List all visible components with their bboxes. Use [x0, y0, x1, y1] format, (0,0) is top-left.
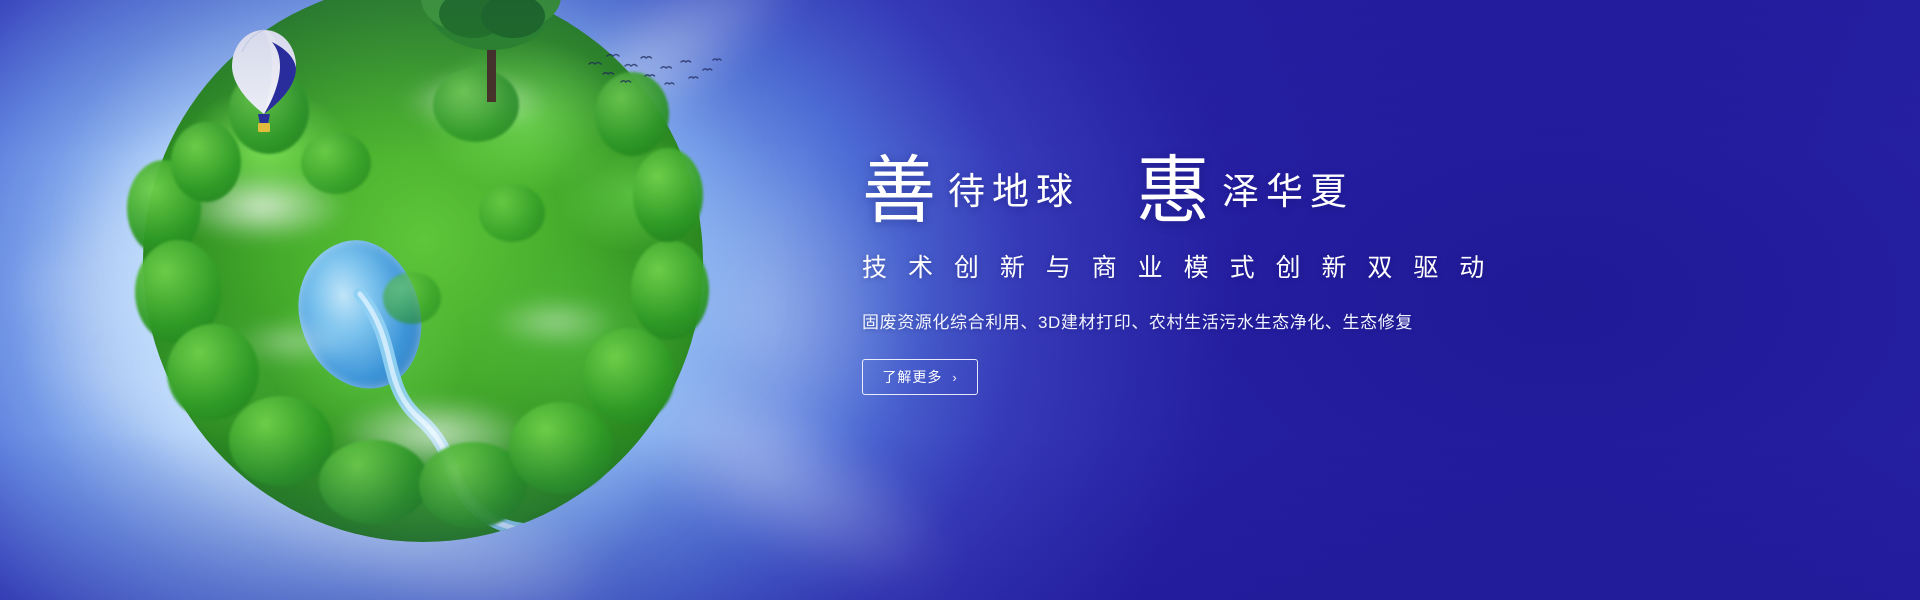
hero-content: 善 待地球 惠 泽华夏 技 术 创 新 与 商 业 模 式 创 新 双 驱 动 …	[862, 126, 1562, 395]
headline-part1-big: 善	[862, 154, 936, 228]
page-title: 善 待地球 惠 泽华夏	[862, 126, 1562, 222]
learn-more-label: 了解更多	[882, 367, 942, 387]
learn-more-button[interactable]: 了解更多 ›	[862, 359, 978, 395]
hero-description: 固废资源化综合利用、3D建材打印、农村生活污水生态净化、生态修复	[862, 308, 1562, 333]
headline-part2-small: 泽华夏	[1222, 173, 1354, 210]
headline-part1-small: 待地球	[948, 173, 1080, 210]
hero-subtitle: 技 术 创 新 与 商 业 模 式 创 新 双 驱 动	[862, 248, 1562, 284]
headline-part2-big: 惠	[1136, 154, 1210, 228]
chevron-right-icon: ›	[952, 370, 957, 385]
hero-banner: 善 待地球 惠 泽华夏 技 术 创 新 与 商 业 模 式 创 新 双 驱 动 …	[0, 0, 1920, 600]
